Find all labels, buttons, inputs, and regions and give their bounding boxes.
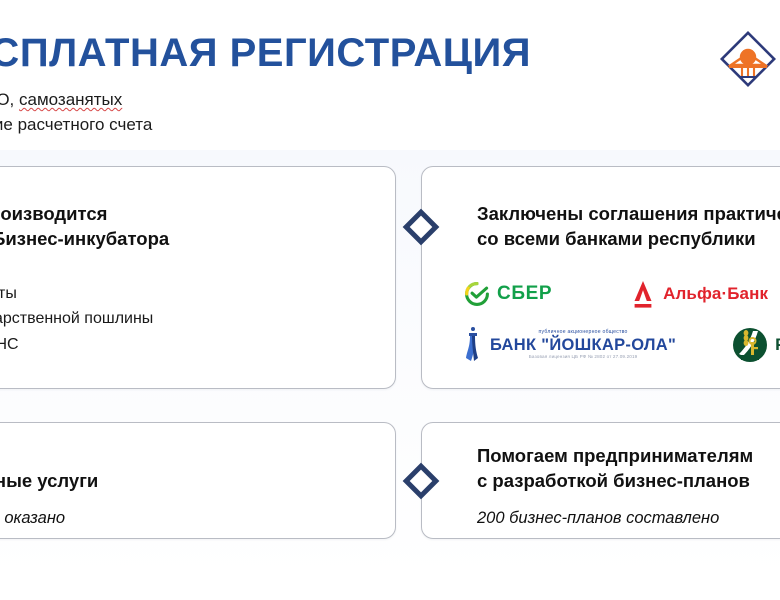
bank-yoshkar-ola-icon <box>462 325 484 365</box>
card-consulting-metric: 670 консультаций оказано <box>0 509 65 528</box>
card-consulting-heading-line1: Оказываем <box>0 443 98 468</box>
card-banks-heading-line1: Заключены соглашения практически <box>477 201 780 226</box>
card-consulting: Оказываем консультационные услуги 670 ко… <box>0 422 396 539</box>
bank-yoshkar-ola-license: Базовая лицензия ЦБ РФ № 2802 от 27.09.2… <box>490 355 676 360</box>
mari-el-business-incubator-emblem <box>717 28 779 90</box>
bank-yoshkar-ola-legal-form: публичное акционерное общество <box>490 330 676 335</box>
card-registration: Регистрация производится сотрудниками Би… <box>0 166 396 389</box>
bullet-item: - без взимания платы <box>0 281 153 306</box>
subtitle-line-entities: ИП, ООО, самозанятых <box>0 88 152 113</box>
card-businessplans-heading: Помогаем предпринимателям с разработкой … <box>477 443 753 493</box>
sber-logo: СБЕР <box>464 281 552 307</box>
card-registration-heading-line1: Регистрация производится <box>0 201 169 226</box>
card-businessplans-heading-line1: Помогаем предпринимателям <box>477 443 753 468</box>
bullet-item: - без посещения ФНС <box>0 332 153 357</box>
sber-icon <box>464 281 490 307</box>
subtitle-selfemployed-text: самозанятых <box>19 90 122 109</box>
subtitle-block: ИП, ООО, самозанятых Открытие расчетного… <box>0 88 152 137</box>
rosselkhozbank-logo: Россельх <box>732 327 780 363</box>
rosselkhozbank-wordmark: Россельх <box>775 335 780 355</box>
card-businessplans-heading-line2: с разработкой бизнес-планов <box>477 468 753 493</box>
card-registration-bullets: - без взимания платы - без оплаты госуда… <box>0 281 153 357</box>
card-consulting-heading: Оказываем консультационные услуги <box>0 443 98 493</box>
card-registration-heading: Регистрация производится сотрудниками Би… <box>0 201 169 251</box>
card-consulting-heading-line2: консультационные услуги <box>0 468 98 493</box>
card-banks-heading: Заключены соглашения практически со всем… <box>477 201 780 251</box>
card-banks-heading-line2: со всеми банками республики <box>477 226 780 251</box>
alfa-bank-wordmark: Альфа·Банк <box>663 284 768 304</box>
bank-yoshkar-ola-wordmark-block: публичное акционерное общество БАНК "ЙОШ… <box>490 330 676 359</box>
slide-header: БЕСПЛАТНАЯ РЕГИСТРАЦИЯ ИП, ООО, самозаня… <box>0 0 780 150</box>
subtitle-line-account: Открытие расчетного счета <box>0 113 152 138</box>
sber-wordmark: СБЕР <box>497 283 552 305</box>
card-banks: Заключены соглашения практически со всем… <box>421 166 780 389</box>
bank-yoshkar-ola-logo: публичное акционерное общество БАНК "ЙОШ… <box>462 325 676 365</box>
bank-logo-row-secondary: публичное акционерное общество БАНК "ЙОШ… <box>462 325 780 365</box>
alfa-bank-logo: Альфа·Банк <box>630 279 768 309</box>
card-registration-heading-line2: сотрудниками Бизнес-инкубатора <box>0 226 169 251</box>
alfa-bank-icon <box>630 279 656 309</box>
bank-yoshkar-ola-name: БАНК "ЙОШКАР-ОЛА" <box>490 337 676 354</box>
slide-canvas: БЕСПЛАТНАЯ РЕГИСТРАЦИЯ ИП, ООО, самозаня… <box>0 0 780 600</box>
bank-logo-row-primary: СБЕР Альфа·Банк <box>464 279 780 309</box>
rosselkhozbank-icon <box>732 327 768 363</box>
bullet-item: - без оплаты государственной пошлины <box>0 306 153 331</box>
card-businessplans-metric: 200 бизнес-планов составлено <box>477 509 719 528</box>
page-title: БЕСПЛАТНАЯ РЕГИСТРАЦИЯ <box>0 32 531 74</box>
subtitle-entities-text: ИП, ООО, <box>0 90 19 109</box>
card-businessplans: Помогаем предпринимателям с разработкой … <box>421 422 780 539</box>
